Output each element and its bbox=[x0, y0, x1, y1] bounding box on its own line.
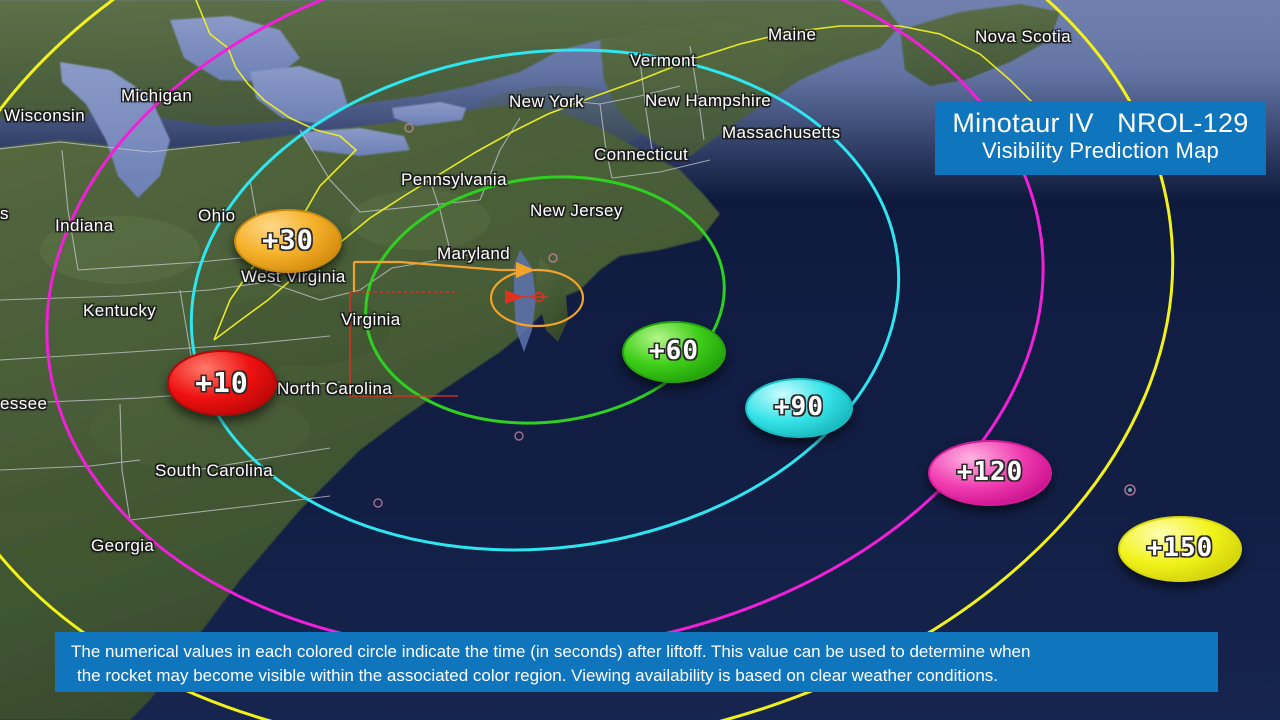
red-ground-track bbox=[505, 290, 548, 304]
time-marker-30[interactable]: +30 bbox=[234, 209, 342, 273]
time-marker-120-label: +120 bbox=[957, 457, 1024, 487]
ring-30 bbox=[263, 85, 828, 514]
time-marker-60[interactable]: +60 bbox=[622, 321, 726, 383]
ring-60 bbox=[351, 157, 738, 443]
time-marker-60-label: +60 bbox=[649, 336, 699, 366]
caption-box: The numerical values in each colored cir… bbox=[55, 632, 1218, 692]
visibility-prediction-map: Wisconsin Michigan Indiana Ohio Kentucky… bbox=[0, 0, 1280, 720]
time-marker-120[interactable]: +120 bbox=[928, 440, 1052, 506]
title-secondary: Visibility Prediction Map bbox=[982, 138, 1219, 164]
launch-site-highlight-ellipse bbox=[491, 270, 583, 326]
time-marker-10[interactable]: +10 bbox=[167, 350, 277, 416]
title-banner: Minotaur IV NROL-129 Visibility Predicti… bbox=[935, 101, 1266, 175]
ring-90 bbox=[162, 11, 927, 590]
caption-line-2: the rocket may become visible within the… bbox=[71, 664, 1204, 688]
time-marker-90[interactable]: +90 bbox=[745, 378, 853, 438]
ring-120 bbox=[6, 0, 1084, 708]
time-marker-30-label: +30 bbox=[262, 225, 314, 256]
caption-line-1: The numerical values in each colored cir… bbox=[71, 640, 1204, 664]
time-marker-10-label: +10 bbox=[195, 366, 249, 399]
time-marker-90-label: +90 bbox=[774, 392, 824, 422]
time-marker-150-label: +150 bbox=[1147, 533, 1214, 563]
title-primary: Minotaur IV NROL-129 bbox=[952, 108, 1248, 138]
time-marker-150[interactable]: +150 bbox=[1118, 516, 1242, 582]
red-pointer-arrow-icon bbox=[505, 290, 524, 304]
